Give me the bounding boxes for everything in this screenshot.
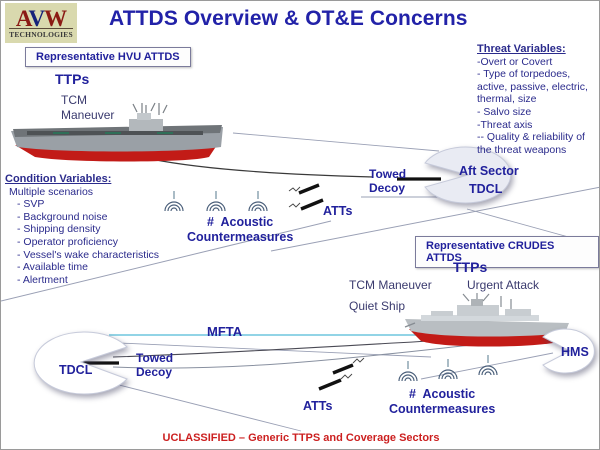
threat-variables-item: active, passive, electric, — [477, 81, 599, 94]
acoustic-countermeasure-icon — [475, 353, 501, 377]
crudes-atts-label: ATTs — [303, 399, 332, 413]
condition-variables-item: - Operator proficiency — [5, 236, 181, 249]
classification-footer: UCLASSIFIED – Generic TTPS and Coverage … — [1, 432, 600, 444]
deck-marking — [53, 132, 69, 134]
condition-variables-colon: : — [108, 173, 112, 185]
leader-line-hvu-top — [233, 133, 439, 151]
leader-line-tdcl-lower — [119, 385, 301, 431]
att-torpedo-icon — [319, 380, 341, 389]
mfta-label: MFTA — [207, 324, 242, 339]
crudes-header-box: Representative CRUDES ATTDS — [415, 236, 599, 268]
hvu-ttps-label: TTPs — [55, 71, 89, 87]
threat-variables-item: -Threat axis — [477, 119, 599, 132]
threat-variables-item: -Overt or Covert — [477, 56, 599, 69]
ship-bridge — [471, 299, 483, 306]
crudes-urgent-attack-label: Urgent Attack — [467, 278, 539, 292]
acoustic-countermeasure-icon — [395, 359, 421, 383]
slide-canvas: AVW TECHNOLOGIES ATTDS Overview & OT&E C… — [0, 0, 600, 450]
condition-variables-item: - Alertment — [5, 274, 181, 287]
acoustic-countermeasure-icon — [203, 189, 229, 213]
ship-forward-house — [431, 311, 453, 316]
att-torpedo-icon — [333, 365, 353, 373]
ship-aft-house — [505, 309, 531, 316]
threat-variables-item: -- Quality & reliability of — [477, 131, 599, 144]
acoustic-countermeasure-icon — [435, 357, 461, 381]
threat-variables-block: Threat Variables: -Overt or Covert - Typ… — [477, 43, 599, 156]
hms-label: HMS — [561, 345, 589, 359]
att-wake-icon — [289, 187, 300, 191]
threat-variables-item: thermal, size — [477, 93, 599, 106]
condition-variables-item: - Available time — [5, 261, 181, 274]
tdcl-sector-coverage-wedge — [31, 331, 131, 393]
hvu-amphibious-assault-ship — [9, 101, 225, 169]
threat-variables-colon: : — [562, 43, 566, 55]
att-wake-icon — [353, 358, 364, 363]
ship-bridge — [137, 113, 151, 120]
deck-marking — [157, 132, 173, 134]
condition-variables-heading-text: Condition Variables — [5, 173, 108, 185]
att-wake-icon — [341, 374, 352, 379]
att-wake-icon — [289, 203, 300, 207]
condition-variables-item: - Background noise — [5, 211, 181, 224]
acoustic-countermeasure-icon — [245, 189, 271, 213]
att-torpedo-icon — [301, 200, 323, 209]
att-torpedo-icon — [299, 185, 319, 193]
threat-variables-item: the threat weapons — [477, 144, 599, 157]
threat-variables-heading-text: Threat Variables — [477, 43, 562, 55]
crudes-tdcl-label: TDCL — [59, 363, 92, 377]
condition-variables-item: - Vessel's wake characteristics — [5, 249, 181, 262]
condition-variables-item: - Shipping density — [5, 223, 181, 236]
att-torpedo-group-lower — [319, 358, 364, 389]
condition-variables-block: Condition Variables: Multiple scenarios … — [5, 173, 181, 286]
ship-superstructure — [457, 305, 499, 316]
crudes-acoustic-countermeasures-label: # Acoustic Countermeasures — [389, 387, 495, 417]
ship-island-superstructure — [129, 119, 163, 131]
deck-marking — [105, 132, 121, 134]
crudes-quiet-ship-label: Quiet Ship — [349, 299, 405, 313]
threat-variables-heading: Threat Variables: — [477, 43, 599, 56]
att-torpedo-group-upper — [289, 185, 323, 209]
hvu-atts-label: ATTs — [323, 204, 352, 218]
hvu-towed-decoy-label: Towed Decoy — [369, 167, 406, 195]
condition-variables-item: - SVP — [5, 198, 181, 211]
condition-variables-subheading: Multiple scenarios — [5, 186, 181, 199]
crudes-ttps-label: TTPs — [453, 259, 487, 275]
hvu-acoustic-countermeasures-label: # Acoustic Countermeasures — [187, 215, 293, 245]
condition-variables-heading: Condition Variables: — [5, 173, 181, 186]
hvu-tcm-maneuver-label: TCM Maneuver — [61, 93, 114, 123]
hvu-header-box: Representative HVU ATTDS — [25, 47, 191, 67]
hvu-tdcl-label: TDCL — [469, 182, 502, 196]
aft-sector-label: Aft Sector — [459, 164, 519, 178]
threat-variables-item: - Type of torpedoes, — [477, 68, 599, 81]
ship-radar-mast — [159, 103, 167, 115]
ship-mast — [133, 103, 155, 113]
threat-variables-item: - Salvo size — [477, 106, 599, 119]
crudes-towed-decoy-label: Towed Decoy — [136, 351, 173, 379]
crudes-tcm-maneuver-label: TCM Maneuver — [349, 278, 432, 292]
